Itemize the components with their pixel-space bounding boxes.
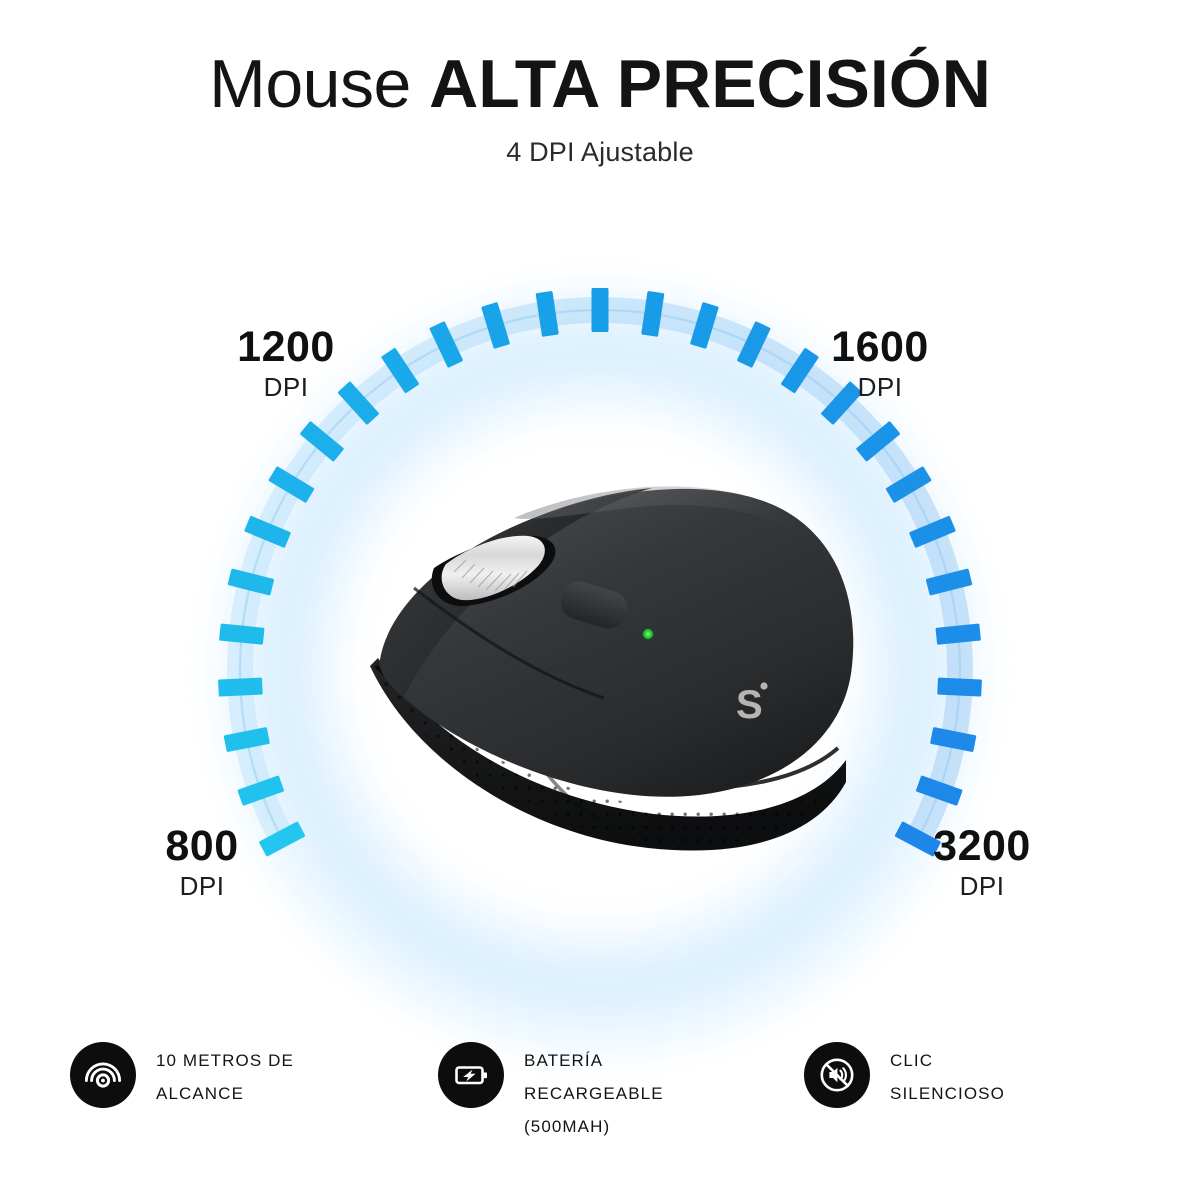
feature-line: 10 METROS DE [156, 1044, 294, 1077]
feature-line: RECARGEABLE [524, 1077, 664, 1110]
dial-tick [935, 624, 980, 645]
feature-line: (500MAH) [524, 1110, 664, 1143]
feature-line: CLIC [890, 1044, 1005, 1077]
dial-tick [592, 288, 609, 332]
dial-tick [219, 624, 264, 645]
wireless-range-icon [83, 1055, 123, 1095]
dpi-label-1600: 1600 DPI [790, 326, 970, 400]
dpi-value: 1200 [196, 326, 376, 369]
mute-badge [804, 1042, 870, 1108]
feature-line: ALCANCE [156, 1077, 294, 1110]
dial-tick [641, 291, 664, 337]
rechargeable-battery-icon [451, 1055, 491, 1095]
hero-section: 1200 DPI 1600 DPI 800 DPI 3200 DPI [0, 210, 1200, 990]
feature-row: 10 METROS DE ALCANCE BATERÍA RECARGEABLE… [0, 1020, 1200, 1180]
dpi-label-800: 800 DPI [112, 825, 292, 899]
dpi-unit-label: DPI [112, 873, 292, 899]
dpi-value: 1600 [790, 326, 970, 369]
dpi-label-1200: 1200 DPI [196, 326, 376, 400]
title-light-part: Mouse [209, 46, 429, 122]
feature-label: CLIC SILENCIOSO [890, 1042, 1005, 1110]
dial-tick [937, 678, 982, 697]
dial-tick [218, 678, 263, 697]
feature-line: SILENCIOSO [890, 1077, 1005, 1110]
dpi-unit-label: DPI [790, 374, 970, 400]
page-subtitle: 4 DPI Ajustable [0, 137, 1200, 168]
title-bold-part: ALTA PRECISIÓN [429, 46, 991, 122]
dpi-indicator-led [643, 629, 653, 639]
page-title: Mouse ALTA PRECISIÓN [0, 48, 1200, 121]
product-image-mouse: S [318, 460, 888, 880]
brand-logo-dot [760, 682, 767, 689]
mute-speaker-icon [817, 1055, 857, 1095]
feature-wireless-range: 10 METROS DE ALCANCE [60, 1020, 420, 1110]
feature-line: BATERÍA [524, 1044, 664, 1077]
dpi-label-3200: 3200 DPI [892, 825, 1072, 899]
dpi-unit-label: DPI [892, 873, 1072, 899]
wireless-range-badge [70, 1042, 136, 1108]
dpi-value: 800 [112, 825, 292, 868]
battery-badge [438, 1042, 504, 1108]
brand-logo: S [736, 683, 763, 727]
dpi-value: 3200 [892, 825, 1072, 868]
dial-tick [536, 291, 559, 337]
feature-rechargeable-battery: BATERÍA RECARGEABLE (500MAH) [420, 1020, 780, 1143]
feature-label: BATERÍA RECARGEABLE (500MAH) [524, 1042, 664, 1143]
feature-silent-click: CLIC SILENCIOSO [780, 1020, 1140, 1110]
dpi-unit-label: DPI [196, 374, 376, 400]
feature-label: 10 METROS DE ALCANCE [156, 1042, 294, 1110]
header: Mouse ALTA PRECISIÓN 4 DPI Ajustable [0, 0, 1200, 168]
